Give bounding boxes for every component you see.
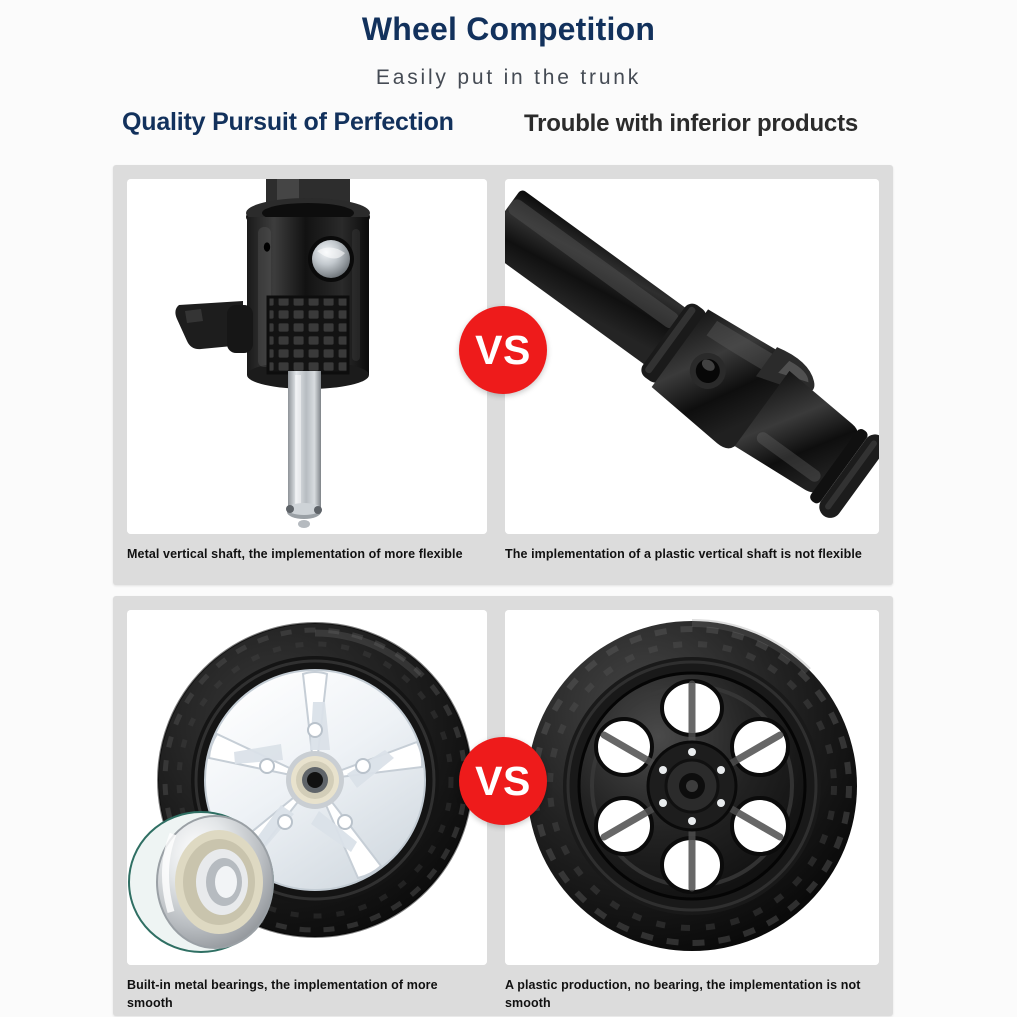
plastic-wheel-no-bearing-photo <box>505 610 879 965</box>
comparison-block-bearings: Built-in metal bearings, the implementat… <box>113 596 893 1016</box>
wheel-with-metal-bearing-illustration <box>127 610 487 965</box>
caption-plastic-vertical-shaft: The implementation of a plastic vertical… <box>505 545 877 563</box>
page-title: Wheel Competition <box>0 10 1017 48</box>
vs-badge-label: VS <box>475 761 531 802</box>
column-headings: Quality Pursuit of Perfection Trouble wi… <box>0 108 1017 152</box>
vs-badge-vertical-shaft: VS <box>459 306 547 394</box>
metal-vertical-shaft-photo <box>127 179 487 534</box>
comparison-block-vertical-shaft: Metal vertical shaft, the implementation… <box>113 165 893 585</box>
plastic-vertical-shaft-photo <box>505 179 879 534</box>
plastic-vertical-shaft-illustration <box>505 179 879 534</box>
page-subtitle: Easily put in the trunk <box>0 66 1017 90</box>
wheel-with-metal-bearing-photo <box>127 610 487 965</box>
heading-inferior-products: Trouble with inferior products <box>524 110 858 138</box>
caption-metal-vertical-shaft: Metal vertical shaft, the implementation… <box>127 545 479 563</box>
heading-quality-pursuit: Quality Pursuit of Perfection <box>122 108 454 137</box>
plastic-wheel-no-bearing-illustration <box>505 610 879 965</box>
page-header: Wheel Competition Easily put in the trun… <box>0 0 1017 90</box>
caption-no-bearing: A plastic production, no bearing, the im… <box>505 976 877 1012</box>
metal-vertical-shaft-illustration <box>127 179 487 534</box>
caption-metal-bearings: Built-in metal bearings, the implementat… <box>127 976 479 1012</box>
vs-badge-bearings: VS <box>459 737 547 825</box>
vs-badge-label: VS <box>475 330 531 371</box>
